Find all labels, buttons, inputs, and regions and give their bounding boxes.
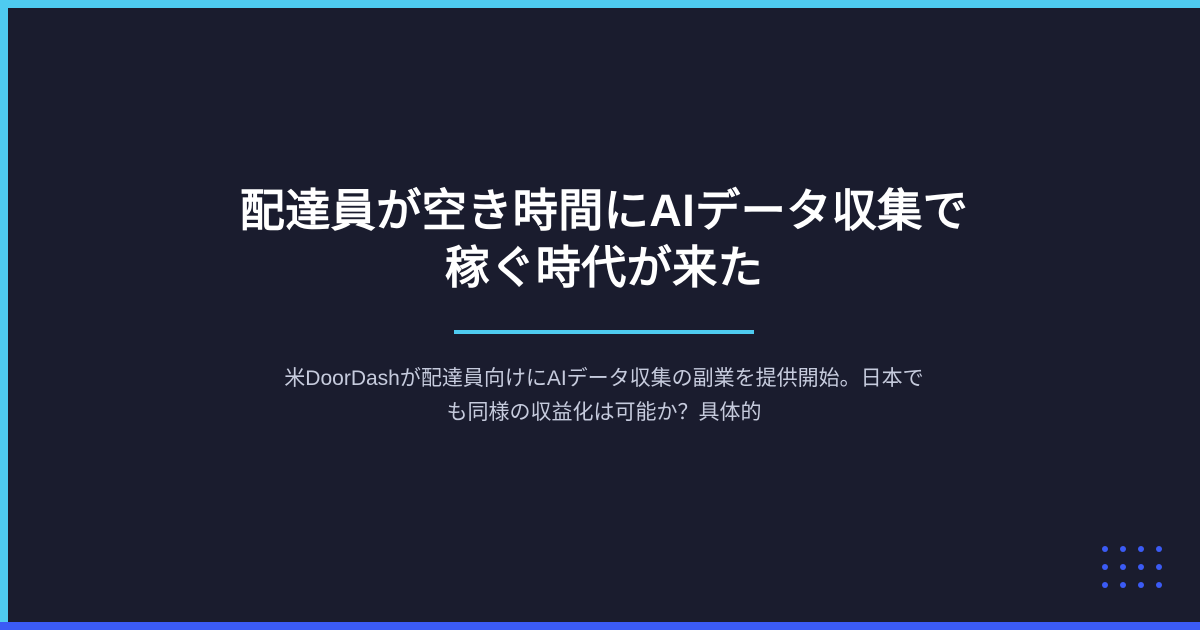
dot	[1156, 564, 1162, 570]
dot	[1156, 546, 1162, 552]
dot	[1102, 582, 1108, 588]
dot	[1102, 546, 1108, 552]
dot	[1138, 564, 1144, 570]
card-content: 配達員が空き時間にAIデータ収集で 稼ぐ時代が来た 米DoorDashが配達員向…	[8, 0, 1200, 630]
title-line-2: 稼ぐ時代が来た	[445, 242, 764, 293]
dot	[1120, 564, 1126, 570]
og-image-card: 配達員が空き時間にAIデータ収集で 稼ぐ時代が来た 米DoorDashが配達員向…	[0, 0, 1200, 630]
left-accent-bar	[0, 0, 8, 630]
dot	[1138, 582, 1144, 588]
subtitle-line-1: 米DoorDashが配達員向けにAIデータ収集の副業を提供開始。日本で	[284, 367, 923, 390]
page-title: 配達員が空き時間にAIデータ収集で 稼ぐ時代が来た	[204, 182, 1004, 297]
page-subtitle: 米DoorDashが配達員向けにAIデータ収集の副業を提供開始。日本で も同様の…	[198, 362, 1010, 430]
decorative-dot-grid	[1102, 546, 1162, 588]
title-divider	[454, 330, 754, 334]
dot	[1102, 564, 1108, 570]
dot	[1156, 582, 1162, 588]
title-line-1: 配達員が空き時間にAIデータ収集で	[240, 185, 969, 236]
dot	[1120, 546, 1126, 552]
dot	[1138, 546, 1144, 552]
subtitle-line-2: も同様の収益化は可能か？具体的	[447, 401, 762, 424]
dot	[1120, 582, 1126, 588]
